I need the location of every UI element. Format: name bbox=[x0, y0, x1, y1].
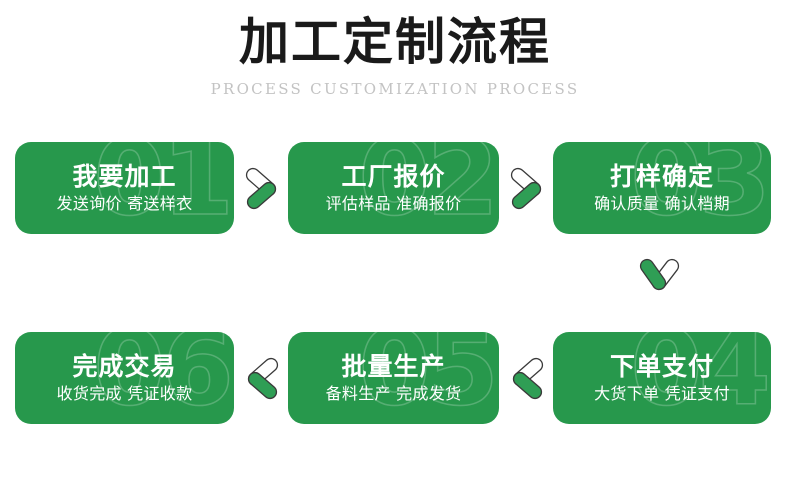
step-card-05[interactable]: 05 批量生产 备料生产 完成发货 bbox=[288, 332, 499, 424]
step-description: 发送询价 寄送样衣 bbox=[57, 195, 193, 213]
step-title: 打样确定 bbox=[610, 163, 714, 191]
process-flow-infographic: 加工定制流程 PROCESS CUSTOMIZATION PROCESS 01 … bbox=[0, 0, 790, 500]
step-title: 下单支付 bbox=[610, 353, 714, 381]
step-description: 收货完成 凭证收款 bbox=[57, 385, 193, 403]
step-card-body: 下单支付 大货下单 凭证支付 bbox=[553, 332, 771, 424]
step-title: 完成交易 bbox=[72, 353, 176, 381]
step-card-01[interactable]: 01 我要加工 发送询价 寄送样衣 bbox=[15, 142, 234, 234]
step-title: 我要加工 bbox=[72, 163, 176, 191]
step-card-body: 我要加工 发送询价 寄送样衣 bbox=[15, 142, 234, 234]
step-title: 批量生产 bbox=[341, 353, 445, 381]
step-card-04[interactable]: 04 下单支付 大货下单 凭证支付 bbox=[553, 332, 771, 424]
flow-row-top: 01 我要加工 发送询价 寄送样衣 02 工厂报价 评估样品 准确报价 03 打… bbox=[0, 142, 790, 234]
chevron-down-icon bbox=[636, 253, 684, 301]
step-title: 工厂报价 bbox=[341, 163, 445, 191]
chevron-left-icon bbox=[238, 354, 286, 402]
page-title: 加工定制流程 bbox=[0, 0, 790, 70]
chevron-right-icon bbox=[503, 164, 551, 212]
chevron-right-icon bbox=[238, 164, 286, 212]
step-card-03[interactable]: 03 打样确定 确认质量 确认档期 bbox=[553, 142, 771, 234]
step-description: 备料生产 完成发货 bbox=[326, 385, 462, 403]
step-description: 大货下单 凭证支付 bbox=[594, 385, 730, 403]
step-description: 确认质量 确认档期 bbox=[594, 195, 730, 213]
step-card-02[interactable]: 02 工厂报价 评估样品 准确报价 bbox=[288, 142, 499, 234]
chevron-left-icon bbox=[503, 354, 551, 402]
page-subtitle: PROCESS CUSTOMIZATION PROCESS bbox=[0, 70, 790, 98]
step-card-body: 批量生产 备料生产 完成发货 bbox=[288, 332, 499, 424]
step-card-body: 完成交易 收货完成 凭证收款 bbox=[15, 332, 234, 424]
step-description: 评估样品 准确报价 bbox=[326, 195, 462, 213]
step-card-body: 打样确定 确认质量 确认档期 bbox=[553, 142, 771, 234]
step-card-06[interactable]: 06 完成交易 收货完成 凭证收款 bbox=[15, 332, 234, 424]
flow-row-bottom: 06 完成交易 收货完成 凭证收款 05 批量生产 备料生产 完成发货 04 下… bbox=[0, 332, 790, 424]
header: 加工定制流程 PROCESS CUSTOMIZATION PROCESS bbox=[0, 0, 790, 98]
step-card-body: 工厂报价 评估样品 准确报价 bbox=[288, 142, 499, 234]
